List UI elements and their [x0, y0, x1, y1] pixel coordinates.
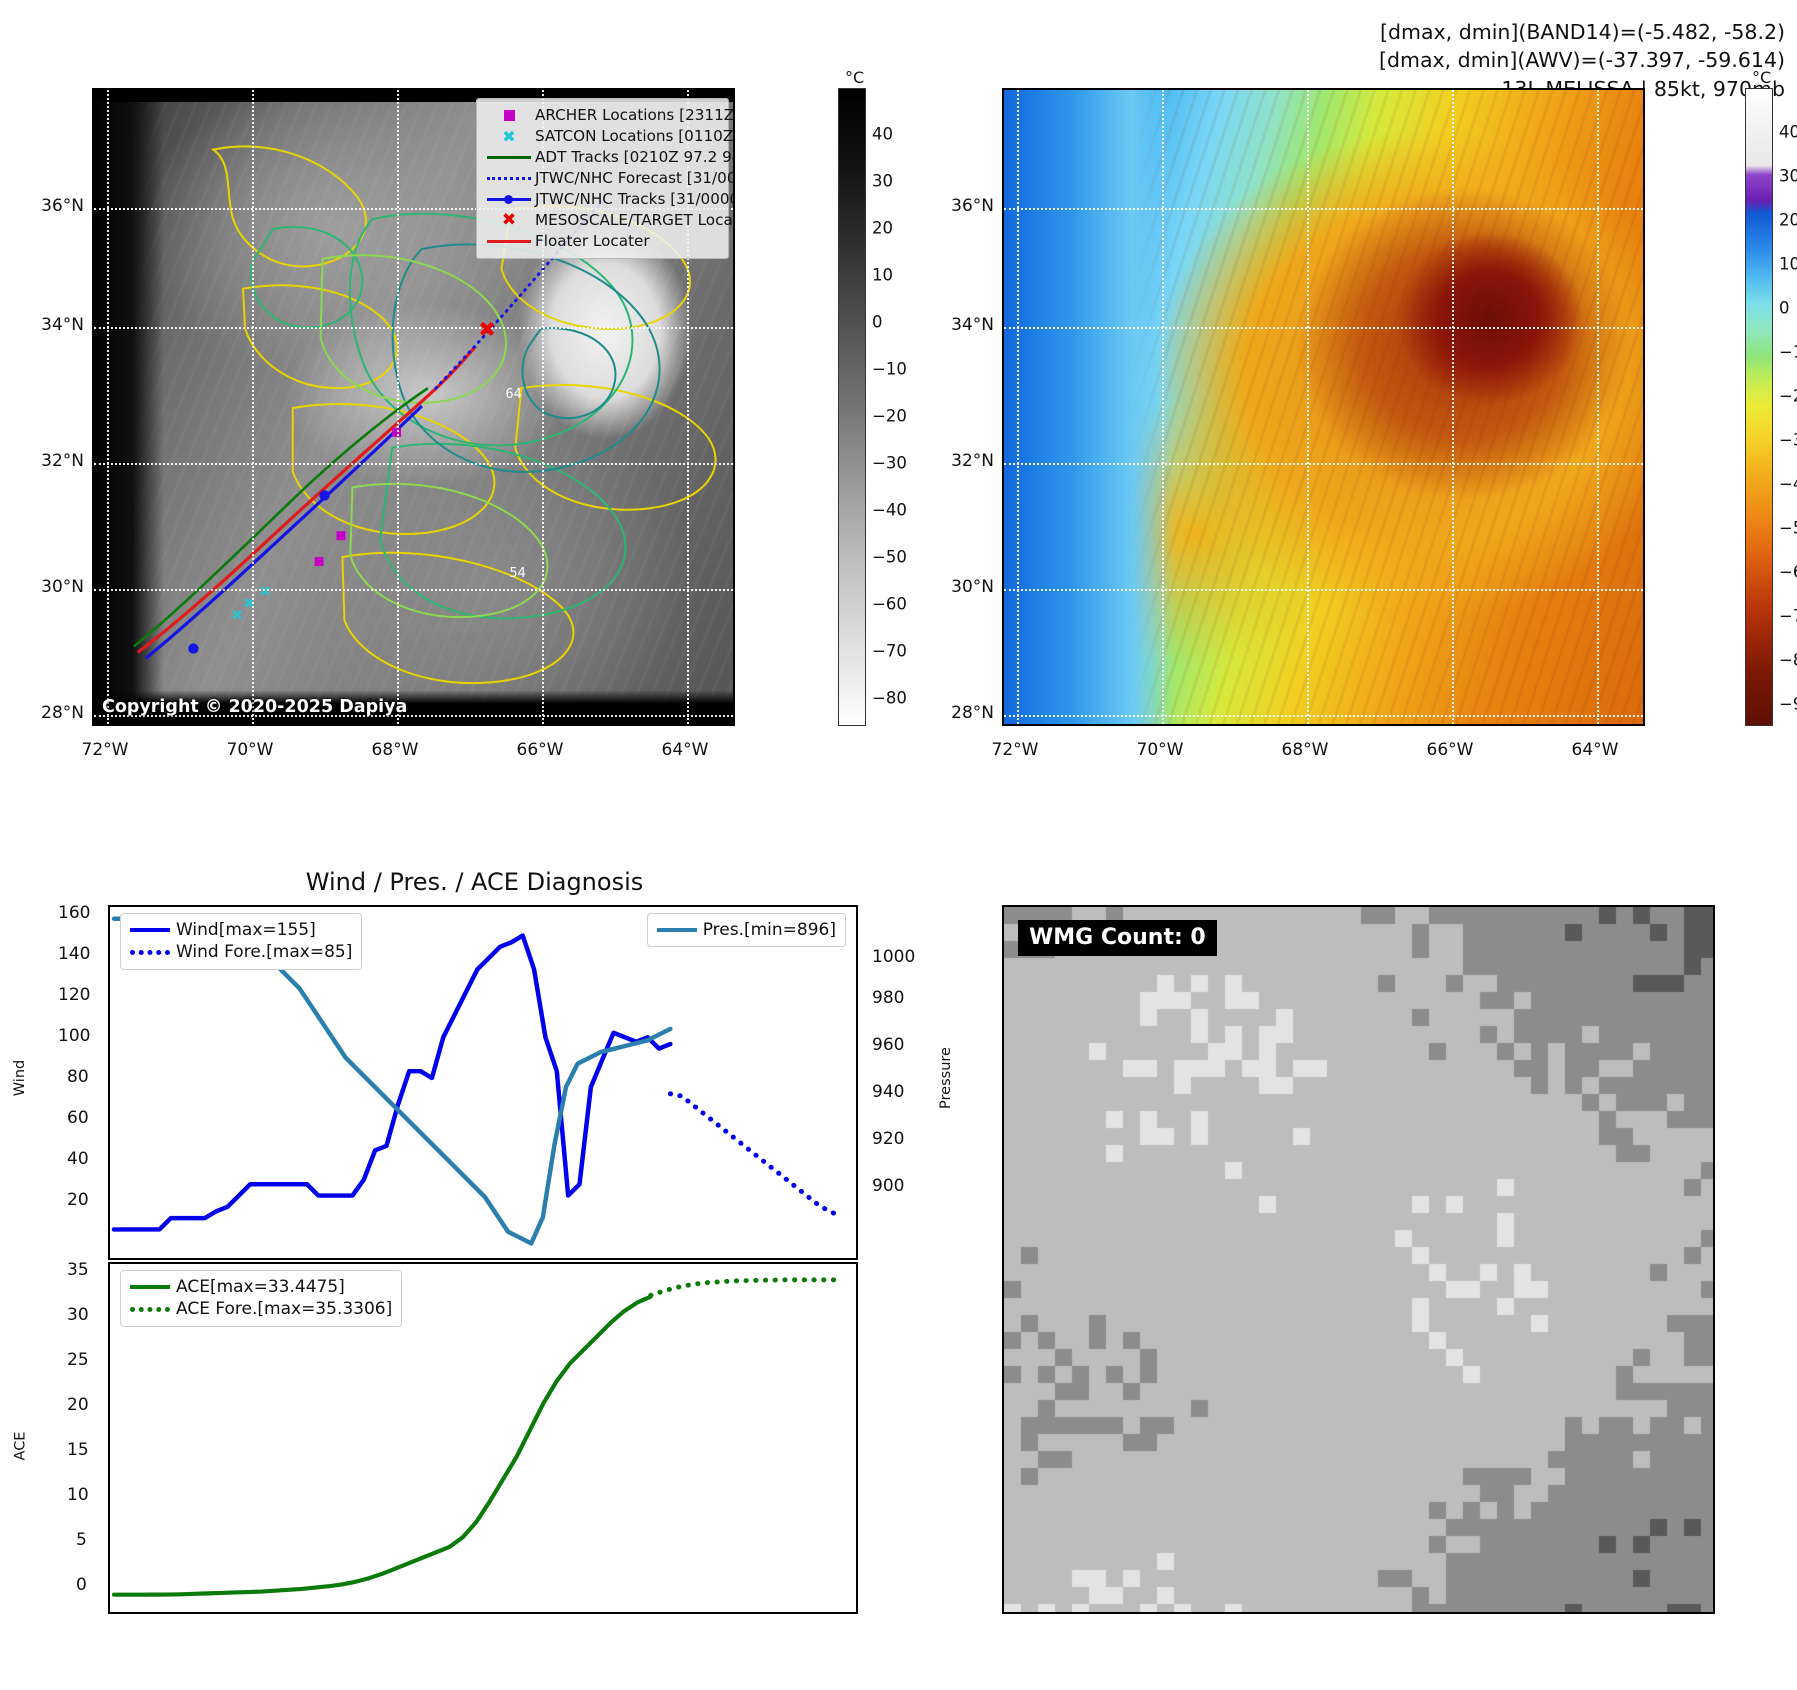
wmg-count-badge: WMG Count: 0	[1018, 920, 1217, 956]
cb-color-tick-m60: −60	[1779, 563, 1797, 582]
ace-ytick-5: 5	[76, 1530, 87, 1550]
wind-ytick-80: 80	[67, 1067, 89, 1087]
ir-lat-label-30: 30°N	[26, 577, 84, 597]
line-blue-dotted-icon	[130, 950, 176, 955]
cb-grey-tick-m20: −20	[872, 407, 907, 426]
color-lon-label-70: 70°W	[1137, 740, 1184, 760]
line-green-icon	[130, 1285, 176, 1289]
ace-chart[interactable]: ACE[max=33.4475] ACE Fore.[max=35.3306]	[108, 1262, 858, 1614]
ace-ytick-0: 0	[76, 1575, 87, 1595]
ir-lat-label-34: 34°N	[26, 315, 84, 335]
legend-item-mesoscale[interactable]: ✖ MESOSCALE/TARGET Location	[483, 210, 721, 231]
pres-ytick-1000: 1000	[872, 947, 915, 967]
meta-awv-range: [dmax, dmin](AWV)=(-37.397, -59.614)	[1379, 46, 1785, 74]
cb-color-tick-20: 20	[1779, 211, 1797, 230]
wind-ytick-160: 160	[58, 903, 90, 923]
cb-color-tick-0: 0	[1779, 299, 1790, 318]
pressure-axis-title: Pressure	[938, 1047, 954, 1109]
cb-color-tick-m30: −30	[1779, 431, 1797, 450]
line-red-icon	[483, 231, 535, 252]
ir-lat-label-32: 32°N	[26, 451, 84, 471]
colorbar-color-unit: °C	[1752, 68, 1771, 87]
wind-ytick-100: 100	[58, 1026, 90, 1046]
legend-item-satcon[interactable]: ✖ SATCON Locations [0110Z 83 956]	[483, 126, 721, 147]
line-green-icon	[483, 147, 535, 168]
ace-ytick-35: 35	[67, 1260, 89, 1280]
copyright-notice: Copyright © 2020-2025 Dapiya	[102, 697, 407, 717]
ace-ytick-30: 30	[67, 1305, 89, 1325]
ace-axis-title: ACE	[12, 1432, 28, 1461]
pressure-legend-label: Pres.[min=896]	[703, 919, 836, 941]
legend-item-adt[interactable]: ADT Tracks [0210Z 97.2 942.8]	[483, 147, 721, 168]
ir-greyscale-map[interactable]: 64 54 ✖ ARCHER Locations [2311Z] ✖ SATCO…	[92, 88, 735, 726]
wind-ytick-120: 120	[58, 985, 90, 1005]
wind-ytick-60: 60	[67, 1108, 89, 1128]
mesoscale-target-marker[interactable]: ✖	[478, 320, 496, 341]
line-blue-dotted-icon	[483, 168, 535, 189]
pressure-legend: Pres.[min=896]	[647, 913, 846, 947]
cb-color-tick-m70: −70	[1779, 607, 1797, 626]
ace-legend-label-ace: ACE[max=33.4475]	[176, 1276, 345, 1298]
ace-legend-label-forecast: ACE Fore.[max=35.3306]	[176, 1298, 392, 1320]
legend-item-archer[interactable]: ARCHER Locations [2311Z]	[483, 105, 721, 126]
cb-grey-tick-m70: −70	[872, 642, 907, 661]
cb-grey-tick-m30: −30	[872, 454, 907, 473]
color-lat-label-34: 34°N	[936, 315, 994, 335]
pres-ytick-920: 920	[872, 1129, 904, 1149]
dashboard-root: GOES-19 BAND14-DIAS MESOSCALE Time: 2025…	[0, 0, 1797, 1690]
wind-legend: Wind[max=155] Wind Fore.[max=85]	[120, 913, 362, 970]
color-lon-label-64: 64°W	[1572, 740, 1619, 760]
wind-legend-label-wind: Wind[max=155]	[176, 919, 316, 941]
legend-label-satcon: SATCON Locations [0110Z 83 956]	[535, 129, 735, 144]
cb-grey-tick-m60: −60	[872, 595, 907, 614]
cb-grey-tick-20: 20	[872, 219, 893, 238]
color-lat-label-32: 32°N	[936, 451, 994, 471]
cb-color-tick-m90: −90	[1779, 695, 1797, 714]
legend-item-floater[interactable]: Floater Locater	[483, 231, 721, 252]
cb-grey-tick-40: 40	[872, 125, 893, 144]
cb-color-tick-m20: −20	[1779, 387, 1797, 406]
svg-text:54: 54	[509, 566, 525, 581]
ace-ytick-20: 20	[67, 1395, 89, 1415]
x-red-icon: ✖	[483, 210, 535, 231]
legend-label-forecast: JTWC/NHC Forecast [31/0000Z]	[535, 171, 735, 186]
cb-grey-tick-10: 10	[872, 266, 893, 285]
map-legend: ARCHER Locations [2311Z] ✖ SATCON Locati…	[476, 98, 729, 259]
color-lon-label-72: 72°W	[992, 740, 1039, 760]
legend-label-adt: ADT Tracks [0210Z 97.2 942.8]	[535, 150, 735, 165]
wind-ytick-140: 140	[58, 944, 90, 964]
charts-title: Wind / Pres. / ACE Diagnosis	[92, 868, 857, 896]
cb-grey-tick-m50: −50	[872, 548, 907, 567]
line-teal-icon	[657, 928, 703, 933]
ace-legend-row-ace[interactable]: ACE[max=33.4475]	[130, 1276, 392, 1298]
ace-legend-row-forecast[interactable]: ACE Fore.[max=35.3306]	[130, 1298, 392, 1320]
ir-lat-label-28: 28°N	[26, 703, 84, 723]
square-magenta-icon	[483, 105, 535, 126]
x-cyan-icon: ✖	[483, 126, 535, 147]
ir-color-map[interactable]	[1002, 88, 1645, 726]
colorbar-color-gradient	[1745, 88, 1773, 726]
legend-item-tracks[interactable]: JTWC/NHC Tracks [31/0000Z]	[483, 189, 721, 210]
line-blue-icon	[130, 928, 176, 932]
color-cool-west-region	[1004, 90, 1174, 724]
cb-grey-tick-0: 0	[872, 313, 883, 332]
ir-lon-label-70: 70°W	[227, 740, 274, 760]
meta-band14-range: [dmax, dmin](BAND14)=(-5.482, -58.2)	[1379, 18, 1785, 46]
colorbar-grey-gradient	[838, 88, 866, 726]
legend-label-floater: Floater Locater	[535, 234, 650, 249]
ir-lon-label-64: 64°W	[662, 740, 709, 760]
legend-label-mesoscale: MESOSCALE/TARGET Location	[535, 213, 735, 228]
ace-ytick-25: 25	[67, 1350, 89, 1370]
cb-color-tick-m50: −50	[1779, 519, 1797, 538]
color-lon-label-68: 68°W	[1282, 740, 1329, 760]
cb-color-tick-30: 30	[1779, 167, 1797, 186]
wind-legend-label-forecast: Wind Fore.[max=85]	[176, 941, 352, 963]
ace-ytick-15: 15	[67, 1440, 89, 1460]
legend-label-archer: ARCHER Locations [2311Z]	[535, 108, 735, 123]
pres-ytick-960: 960	[872, 1035, 904, 1055]
cb-color-tick-m40: −40	[1779, 475, 1797, 494]
cb-grey-tick-m40: −40	[872, 501, 907, 520]
ir-lat-label-36: 36°N	[26, 196, 84, 216]
wind-ytick-20: 20	[67, 1190, 89, 1210]
color-lat-label-36: 36°N	[936, 196, 994, 216]
svg-text:64: 64	[505, 387, 521, 402]
wind-axis-title: Wind	[12, 1060, 28, 1096]
cb-grey-tick-m10: −10	[872, 360, 907, 379]
wind-legend-row-forecast[interactable]: Wind Fore.[max=85]	[130, 941, 352, 963]
pressure-legend-row[interactable]: Pres.[min=896]	[657, 919, 836, 941]
ir-lon-label-68: 68°W	[372, 740, 419, 760]
cb-color-tick-40: 40	[1779, 123, 1797, 142]
pres-ytick-940: 940	[872, 1082, 904, 1102]
cb-color-tick-m10: −10	[1779, 343, 1797, 362]
color-lat-label-30: 30°N	[936, 577, 994, 597]
wind-ytick-40: 40	[67, 1149, 89, 1169]
line-blue-marker-icon	[483, 189, 535, 210]
ace-legend: ACE[max=33.4475] ACE Fore.[max=35.3306]	[120, 1270, 402, 1327]
ace-ytick-10: 10	[67, 1485, 89, 1505]
color-lon-label-66: 66°W	[1427, 740, 1474, 760]
cb-grey-tick-30: 30	[872, 172, 893, 191]
color-lat-label-28: 28°N	[936, 703, 994, 723]
pres-ytick-900: 900	[872, 1176, 904, 1196]
pres-ytick-980: 980	[872, 988, 904, 1008]
legend-item-forecast[interactable]: JTWC/NHC Forecast [31/0000Z]	[483, 168, 721, 189]
wind-legend-row-wind[interactable]: Wind[max=155]	[130, 919, 352, 941]
cb-color-tick-10: 10	[1779, 255, 1797, 274]
ir-lon-label-72: 72°W	[82, 740, 129, 760]
cb-grey-tick-m80: −80	[872, 689, 907, 708]
wind-pressure-chart[interactable]: Wind[max=155] Wind Fore.[max=85] Pres.[m…	[108, 905, 858, 1260]
ir-lon-label-66: 66°W	[517, 740, 564, 760]
legend-label-tracks: JTWC/NHC Tracks [31/0000Z]	[535, 192, 735, 207]
colorbar-grey-unit: °C	[845, 68, 864, 87]
line-green-dotted-icon	[130, 1307, 176, 1312]
cb-color-tick-m80: −80	[1779, 651, 1797, 670]
wmg-mosaic-panel[interactable]: WMG Count: 0	[1002, 905, 1715, 1614]
wmg-mosaic-canvas	[1004, 907, 1715, 1614]
